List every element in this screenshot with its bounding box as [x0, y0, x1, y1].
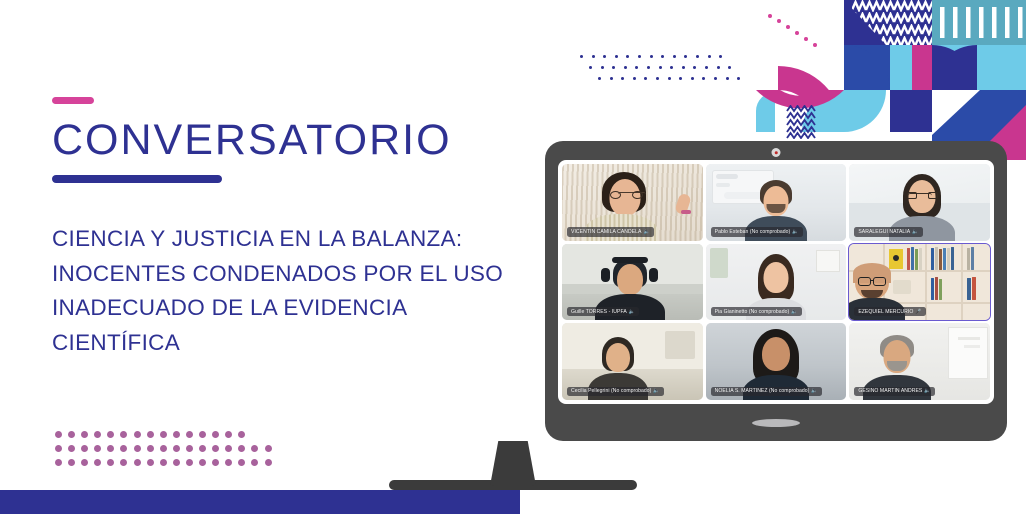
participant-name-tag: SARALEGUI NATALIA 🔈	[854, 227, 922, 236]
dot-row	[55, 445, 272, 452]
subtitle-line-2: INOCENTES CONDENADOS POR EL USO	[52, 257, 512, 292]
participant-name-tag: EZEQUIEL MERCURIO 🎤	[854, 307, 925, 316]
microphone-icon: 🔈	[644, 229, 650, 235]
participant-name-tag: Cecilia Pellegrini (No comprobado) 🔈	[567, 387, 664, 396]
microphone-icon: 🔈	[791, 309, 797, 315]
zigzag-swatch-icon	[785, 105, 821, 139]
video-tile[interactable]: GESINO MARTIN ANDRES 🔈	[849, 323, 990, 400]
microphone-icon: 🎤	[915, 309, 921, 315]
video-tile[interactable]: Pia Gianinetto (No comprobado) 🔈	[706, 244, 847, 321]
participant-name-tag: Pablo Esteban (No comprobado) 🔈	[711, 227, 803, 236]
video-tile[interactable]: VICENTIN CAMILA CANDELA 🔈	[562, 164, 703, 241]
participant-name: VICENTIN CAMILA CANDELA	[571, 229, 642, 235]
participant-name: EZEQUIEL MERCURIO	[858, 309, 913, 315]
video-tile[interactable]: SARALEGUI NATALIA 🔈	[849, 164, 990, 241]
video-tile[interactable]: NOELIA S. MARTINEZ (No comprobado) 🔈	[706, 323, 847, 400]
text-panel: CONVERSATORIO CIENCIA Y JUSTICIA EN LA B…	[0, 0, 540, 514]
participant-name: Pia Gianinetto (No comprobado)	[715, 309, 790, 315]
subtitle-line-4: CIENTÍFICA	[52, 326, 512, 361]
microphone-icon: 🔈	[653, 388, 659, 394]
video-tile[interactable]: Guille TORRES - IUPFA 🔈	[562, 244, 703, 321]
accent-rule-pink	[52, 97, 94, 104]
webcam-dot-icon	[772, 148, 781, 157]
participant-name-tag: VICENTIN CAMILA CANDELA 🔈	[567, 227, 654, 236]
poster-canvas: CONVERSATORIO CIENCIA Y JUSTICIA EN LA B…	[0, 0, 1026, 514]
dot-grid-decoration	[55, 431, 272, 466]
participant-name: Pablo Esteban (No comprobado)	[715, 229, 791, 235]
microphone-icon: 🔈	[811, 388, 817, 394]
participant-name-tag: Pia Gianinetto (No comprobado) 🔈	[711, 307, 802, 316]
video-tile-active-speaker[interactable]: EZEQUIEL MERCURIO 🎤	[849, 244, 990, 321]
subtitle-line-1: CIENCIA Y JUSTICIA EN LA BALANZA:	[52, 222, 512, 257]
microphone-icon: 🔈	[912, 229, 918, 235]
video-tile[interactable]: Cecilia Pellegrini (No comprobado) 🔈	[562, 323, 703, 400]
participant-name: GESINO MARTIN ANDRES	[858, 388, 922, 394]
dot-row	[55, 459, 272, 466]
accent-rule-navy	[52, 175, 222, 183]
participant-name: Cecilia Pellegrini (No comprobado)	[571, 388, 651, 394]
participant-name: NOELIA S. MARTINEZ (No comprobado)	[715, 388, 810, 394]
participant-name-tag: GESINO MARTIN ANDRES 🔈	[854, 387, 934, 396]
participant-name-tag: Guille TORRES - IUPFA 🔈	[567, 307, 639, 316]
page-subtitle: CIENCIA Y JUSTICIA EN LA BALANZA: INOCEN…	[52, 222, 512, 361]
microphone-icon: 🔈	[792, 229, 798, 235]
monitor: VICENTIN CAMILA CANDELA 🔈	[545, 141, 1007, 441]
monitor-screen: VICENTIN CAMILA CANDELA 🔈	[558, 160, 994, 404]
participant-name: Guille TORRES - IUPFA	[571, 309, 627, 315]
bottom-accent-bar	[0, 490, 520, 514]
geometric-decoration	[740, 0, 1026, 160]
participant-name-tag: NOELIA S. MARTINEZ (No comprobado) 🔈	[711, 387, 822, 396]
microphone-icon: 🔈	[629, 309, 635, 315]
navy-dot-pattern	[580, 55, 740, 80]
participant-name: SARALEGUI NATALIA	[858, 229, 910, 235]
monitor-chin-gloss	[752, 419, 800, 427]
page-title: CONVERSATORIO	[52, 118, 452, 163]
video-call-grid: VICENTIN CAMILA CANDELA 🔈	[562, 164, 990, 400]
video-tile[interactable]: Pablo Esteban (No comprobado) 🔈	[706, 164, 847, 241]
microphone-icon: 🔈	[924, 388, 930, 394]
dot-row	[55, 431, 272, 438]
subtitle-line-3: INADECUADO DE LA EVIDENCIA	[52, 291, 512, 326]
